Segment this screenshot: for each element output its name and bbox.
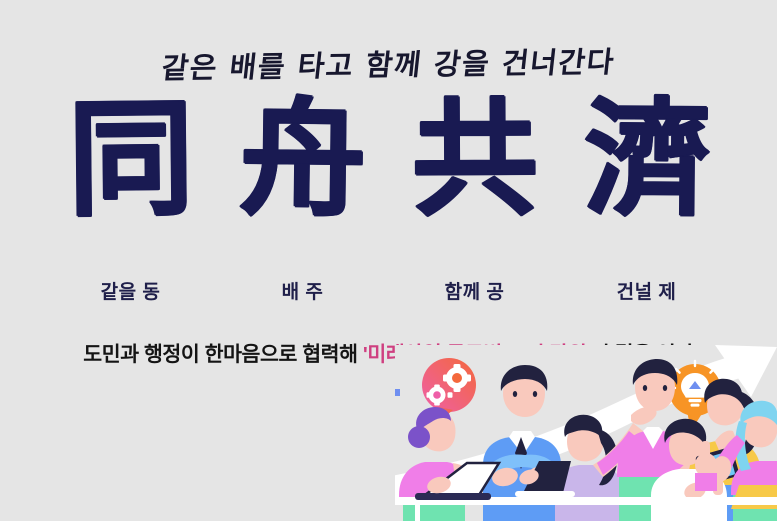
idiom-readings-row: 같을 동 배 주 함께 공 건널 제 (0, 277, 777, 304)
idiom-reading-3: 함께 공 (400, 277, 550, 304)
idiom-reading-2: 배 주 (228, 277, 378, 304)
idiom-character-1: 同 (55, 95, 206, 223)
idiom-reading-1: 같을 동 (56, 277, 206, 304)
idiom-reading-4: 건널 제 (572, 277, 722, 304)
idiom-character-4: 濟 (571, 95, 722, 222)
people-collaborating-illustration (395, 345, 777, 521)
subtitle-lead: 도민과 행정이 한마음으로 협력해 (83, 343, 363, 366)
tagline-text: 같은 배를 타고 함께 강을 건너간다 (0, 37, 777, 90)
idiom-character-2: 舟 (227, 95, 379, 223)
idiom-characters-row: 同 舟 共 濟 (0, 96, 777, 222)
idiom-character-3: 共 (399, 96, 550, 223)
infographic-card: 같은 배를 타고 함께 강을 건너간다 同 舟 共 濟 같을 동 배 주 함께 … (0, 0, 777, 521)
